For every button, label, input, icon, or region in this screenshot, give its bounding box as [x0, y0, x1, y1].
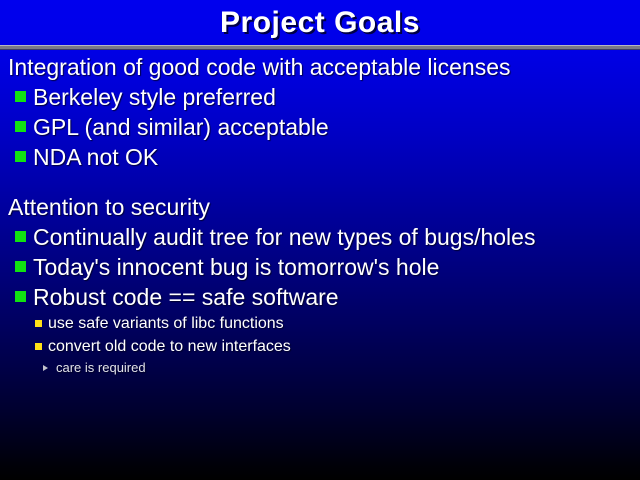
bullet-level1: Attention to security	[0, 192, 640, 222]
bullet-label: NDA not OK	[33, 144, 158, 170]
block-spacer	[0, 172, 640, 186]
bullet-label: care is required	[56, 360, 146, 375]
square-bullet-icon	[15, 151, 26, 162]
bullet-label: Continually audit tree for new types of …	[33, 224, 535, 250]
triangle-bullet-icon	[43, 365, 48, 371]
bullet-label: Berkeley style preferred	[33, 84, 276, 110]
bullet-label: convert old code to new interfaces	[48, 338, 291, 355]
bullet-label: use safe variants of libc functions	[48, 315, 284, 332]
slide-body: Integration of good code with acceptable…	[0, 52, 640, 378]
bullet-level2: NDA not OK	[0, 142, 640, 172]
content-block: Integration of good code with acceptable…	[0, 52, 640, 172]
square-bullet-icon	[15, 291, 26, 302]
bullet-level2: Today's innocent bug is tomorrow's hole	[0, 252, 640, 282]
square-bullet-icon	[15, 121, 26, 132]
square-bullet-icon	[15, 91, 26, 102]
bullet-label: GPL (and similar) acceptable	[33, 114, 329, 140]
bullet-level2: Continually audit tree for new types of …	[0, 222, 640, 252]
bullet-label: Robust code == safe software	[33, 284, 339, 310]
bullet-level3: use safe variants of libc functions	[0, 312, 640, 335]
presentation-slide: Project Goals Integration of good code w…	[0, 0, 640, 480]
bullet-level4: care is required	[0, 358, 640, 378]
title-divider-shadow	[0, 49, 640, 50]
square-bullet-icon	[15, 231, 26, 242]
bullet-level1: Integration of good code with acceptable…	[0, 52, 640, 82]
slide-title-bar: Project Goals	[0, 0, 640, 46]
dot-bullet-icon	[35, 343, 42, 350]
title-divider	[0, 45, 640, 50]
bullet-level3: convert old code to new interfaces	[0, 335, 640, 358]
bullet-level2: GPL (and similar) acceptable	[0, 112, 640, 142]
bullet-level2: Robust code == safe software	[0, 282, 640, 312]
square-bullet-icon	[15, 261, 26, 272]
content-block: Attention to security Continually audit …	[0, 192, 640, 378]
page-title: Project Goals	[0, 0, 640, 41]
bullet-label: Today's innocent bug is tomorrow's hole	[33, 254, 439, 280]
dot-bullet-icon	[35, 320, 42, 327]
bullet-level2: Berkeley style preferred	[0, 82, 640, 112]
